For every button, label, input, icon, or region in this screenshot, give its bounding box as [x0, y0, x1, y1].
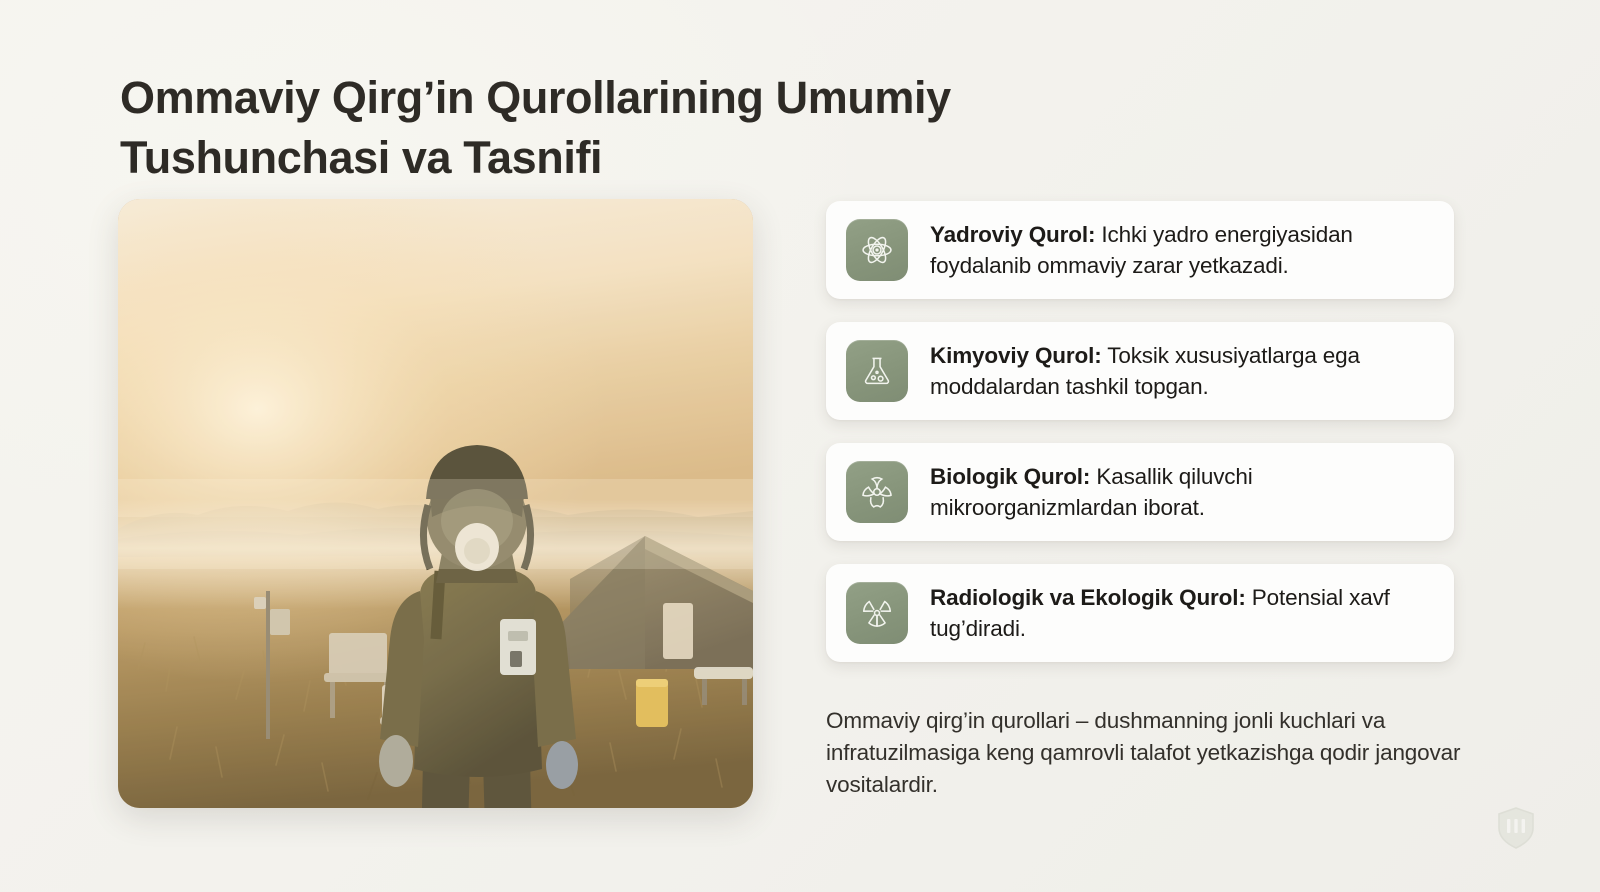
radiation-icon	[859, 595, 895, 631]
hero-photo-illustration	[118, 199, 753, 808]
page-title-line-2: Tushunchasi va Tasnifi	[120, 128, 1100, 188]
summary-paragraph: Ommaviy qirg’in qurollari – dushmanning …	[826, 705, 1486, 801]
shield-logo-glyph	[1496, 806, 1536, 850]
page-title-line-1: Ommaviy Qirg’in Qurollarining Umumiy	[120, 68, 1100, 128]
page-title: Ommaviy Qirg’in Qurollarining Umumiy Tus…	[120, 68, 1100, 188]
feature-card-chemical[interactable]: Kimyoviy Qurol: Toksik xususiyatlarga eg…	[826, 322, 1454, 420]
feature-card-list: Yadroviy Qurol: Ichki yadro energiyasida…	[826, 201, 1454, 662]
atom-icon	[859, 232, 895, 268]
feature-card-text: Kimyoviy Qurol: Toksik xususiyatlarga eg…	[930, 340, 1428, 402]
icon-tile-radiological	[846, 582, 908, 644]
flask-icon	[859, 353, 895, 389]
feature-card-nuclear[interactable]: Yadroviy Qurol: Ichki yadro energiyasida…	[826, 201, 1454, 299]
shield-logo-icon	[1496, 806, 1536, 850]
feature-card-lead: Yadroviy Qurol:	[930, 222, 1095, 247]
feature-card-lead: Radiologik va Ekologik Qurol:	[930, 585, 1246, 610]
feature-card-biological[interactable]: Biologik Qurol: Kasallik qiluvchi mikroo…	[826, 443, 1454, 541]
icon-tile-nuclear	[846, 219, 908, 281]
slide-root: Ommaviy Qirg’in Qurollarining Umumiy Tus…	[0, 0, 1600, 892]
feature-card-radiological[interactable]: Radiologik va Ekologik Qurol: Potensial …	[826, 564, 1454, 662]
icon-tile-biological	[846, 461, 908, 523]
feature-card-text: Biologik Qurol: Kasallik qiluvchi mikroo…	[930, 461, 1428, 523]
feature-card-text: Yadroviy Qurol: Ichki yadro energiyasida…	[930, 219, 1428, 281]
icon-tile-chemical	[846, 340, 908, 402]
feature-card-lead: Kimyoviy Qurol:	[930, 343, 1102, 368]
feature-card-text: Radiologik va Ekologik Qurol: Potensial …	[930, 582, 1428, 644]
feature-card-lead: Biologik Qurol:	[930, 464, 1090, 489]
hero-photo	[118, 199, 753, 808]
biohazard-icon	[859, 474, 895, 510]
